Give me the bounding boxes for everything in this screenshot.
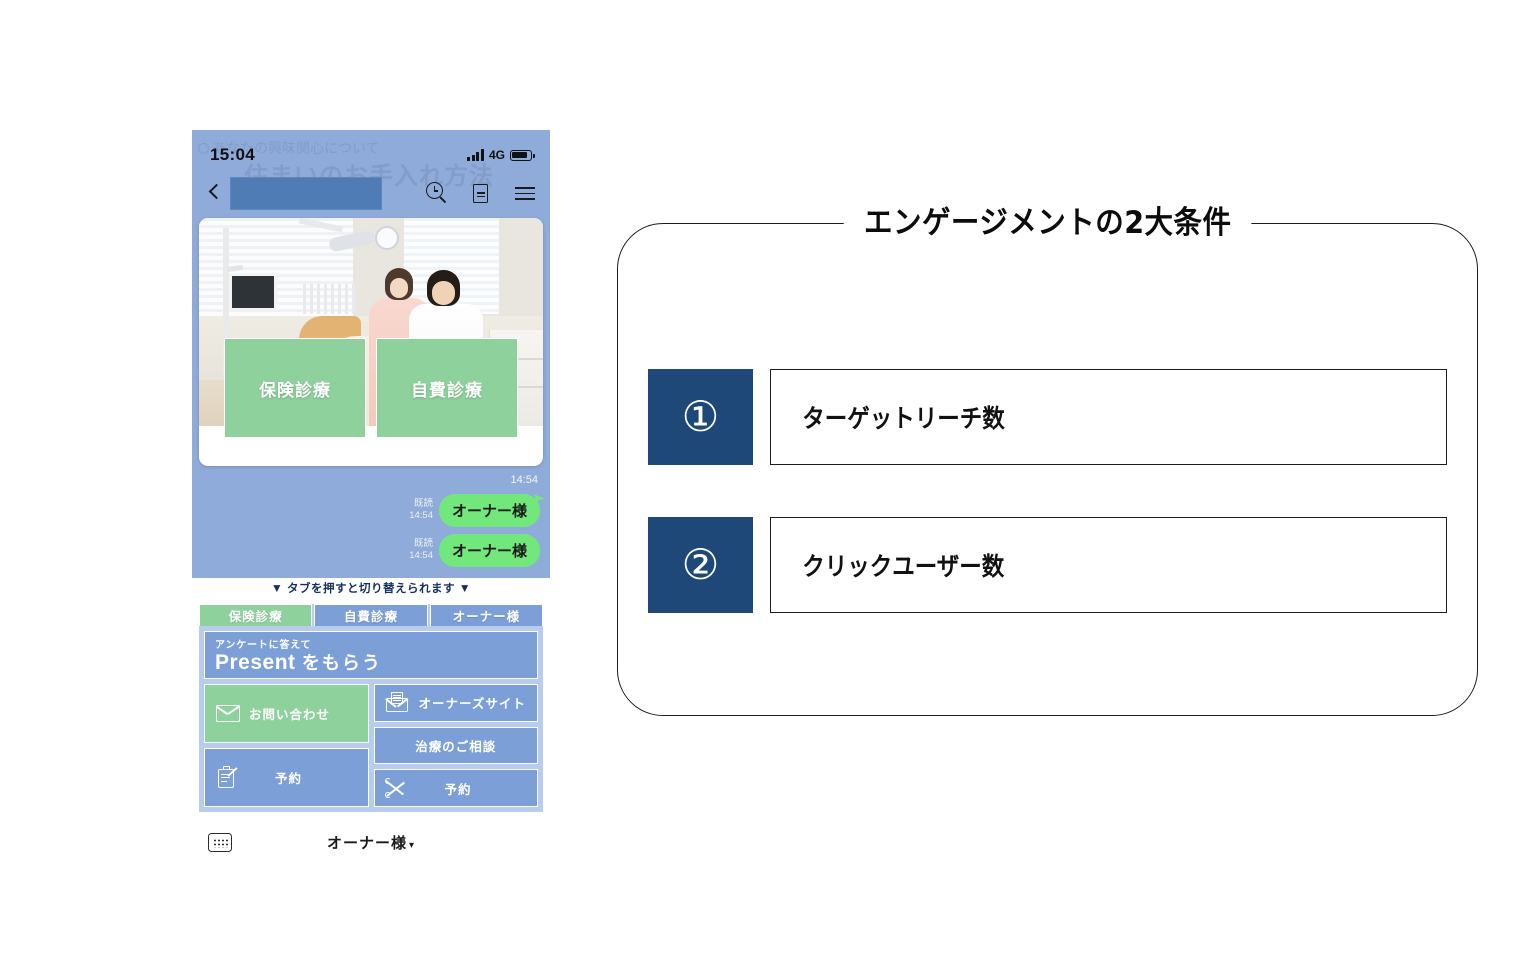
phone-screen: あなたの興味関心について 住まいのお手入れ方法 15:04 4G (192, 130, 550, 578)
panel-row-text: ターゲットリーチ数 (802, 399, 1005, 435)
engagement-conditions-panel: エンゲージメントの2大条件 ① ターゲットリーチ数 ② クリックユーザー数 (617, 223, 1478, 716)
chat-title-redacted (230, 177, 382, 210)
document-list-icon[interactable] (470, 182, 492, 204)
rich-menu-item-consult-label: 治療のご相談 (415, 736, 496, 755)
imagemap-message-card[interactable]: 保険診療 自費診療 (199, 218, 543, 466)
keyboard-icon[interactable] (208, 833, 232, 852)
chat-message-row: 既読 14:54 オーナー様 (409, 494, 540, 527)
screenshot-root: あなたの興味関心について 住まいのお手入れ方法 15:04 4G (0, 0, 1537, 960)
message-timestamp: 14:54 (409, 550, 433, 562)
rich-menu-item-reserve-left[interactable]: 予約 (204, 748, 369, 807)
rich-menu-item-reserve-right[interactable]: 予約 (374, 769, 539, 807)
tab-hoken-shinryo[interactable]: 保険診療 (199, 604, 312, 626)
tab-jihi-shinryo[interactable]: 自費診療 (314, 604, 427, 626)
chevron-down-icon: ▾ (409, 840, 415, 851)
nav-icon-group (426, 182, 536, 204)
panel-row-text-box: クリックユーザー数 (770, 517, 1447, 613)
message-timestamp: 14:54 (409, 510, 433, 522)
triangle-left-icon: ▼ (271, 581, 283, 595)
clipboard-pen-icon (215, 767, 241, 789)
panel-row-text: クリックユーザー数 (802, 547, 1004, 583)
tab-hint: ▼ タブを押すと切り替えられます ▼ (192, 580, 550, 596)
triangle-right-icon: ▼ (459, 581, 471, 595)
panel-row-text-box: ターゲットリーチ数 (770, 369, 1447, 465)
panel-row-list: ① ターゲットリーチ数 ② クリックユーザー数 (648, 369, 1447, 613)
rich-menu-item-contact-label: お問い合わせ (249, 704, 330, 723)
signal-bars-icon (467, 149, 484, 161)
banner-title-jp: をもらう (302, 653, 382, 673)
panel-row-number-badge: ② (648, 517, 753, 613)
rich-menu-item-reserve-left-label: 予約 (275, 768, 302, 787)
banner-title: Present をもらう (215, 651, 527, 674)
battery-icon (510, 150, 532, 161)
bottom-bar-label-text: オーナー様 (327, 835, 407, 852)
chat-bubble[interactable]: オーナー様 (439, 534, 540, 567)
tab-owner-sama[interactable]: オーナー様 (430, 604, 543, 626)
phone-mockup: あなたの興味関心について 住まいのお手入れ方法 15:04 4G (192, 130, 550, 865)
rich-menu-item-reserve-right-label: 予約 (445, 779, 472, 798)
tab-hint-label: タブを押すと切り替えられます (287, 583, 455, 595)
status-bar: 15:04 4G (192, 142, 550, 168)
rich-menu-item-owners-site-label: オーナーズサイト (419, 693, 526, 712)
panel-title: エンゲージメントの2大条件 (617, 197, 1478, 242)
banner-subtitle: アンケートに答えて (215, 636, 527, 651)
panel-row: ② クリックユーザー数 (648, 517, 1447, 613)
chat-message-meta: 既読 14:54 (409, 498, 433, 527)
tools-wrench-icon (385, 777, 411, 799)
panel-title-text: エンゲージメントの2大条件 (844, 197, 1252, 242)
banner-title-en: Present (215, 651, 296, 674)
rich-menu-right-column: オーナーズサイト 治療のご相談 予約 (374, 684, 539, 807)
bottom-bar-label[interactable]: オーナー様▾ (208, 832, 534, 853)
chevron-left-icon[interactable] (206, 182, 224, 204)
imagemap-overlay-buttons: 保険診療 自費診療 (199, 338, 543, 466)
rich-menu-item-contact[interactable]: お問い合わせ (204, 684, 369, 743)
rich-menu: 保険診療 自費診療 オーナー様 アンケートに答えて Present をもらう (199, 604, 543, 812)
search-clock-icon[interactable] (426, 182, 448, 204)
panel-row: ① ターゲットリーチ数 (648, 369, 1447, 465)
hamburger-menu-icon[interactable] (514, 182, 536, 204)
rich-menu-left-column: お問い合わせ 予約 (204, 684, 369, 807)
rich-menu-present-banner[interactable]: アンケートに答えて Present をもらう (204, 631, 538, 679)
status-bar-time: 15:04 (210, 145, 255, 165)
chat-bottom-bar: オーナー様▾ (192, 820, 550, 865)
chat-header-timestamp: 14:54 (510, 474, 538, 486)
mail-envelope-icon (215, 703, 241, 725)
chat-message-row: 既読 14:54 オーナー様 (409, 534, 540, 567)
open-envelope-letter-icon (385, 692, 411, 714)
rich-menu-body: アンケートに答えて Present をもらう お問い合わせ (199, 626, 543, 812)
rich-menu-tabs: 保険診療 自費診療 オーナー様 (199, 604, 543, 626)
rich-menu-item-owners-site[interactable]: オーナーズサイト (374, 684, 539, 722)
rich-menu-grid: お問い合わせ 予約 (204, 684, 538, 807)
network-label: 4G (489, 148, 505, 162)
imagemap-button-jihi[interactable]: 自費診療 (376, 338, 518, 438)
rich-menu-item-consult[interactable]: 治療のご相談 (374, 727, 539, 765)
read-receipt-label: 既読 (409, 498, 433, 510)
read-receipt-label: 既読 (409, 538, 433, 550)
chat-nav-bar (192, 174, 550, 212)
chat-bubble[interactable]: オーナー様 (439, 494, 540, 527)
status-bar-indicators: 4G (467, 148, 532, 162)
chat-message-meta: 既読 14:54 (409, 538, 433, 567)
panel-row-number-badge: ① (648, 369, 753, 465)
imagemap-button-hoken[interactable]: 保険診療 (224, 338, 366, 438)
